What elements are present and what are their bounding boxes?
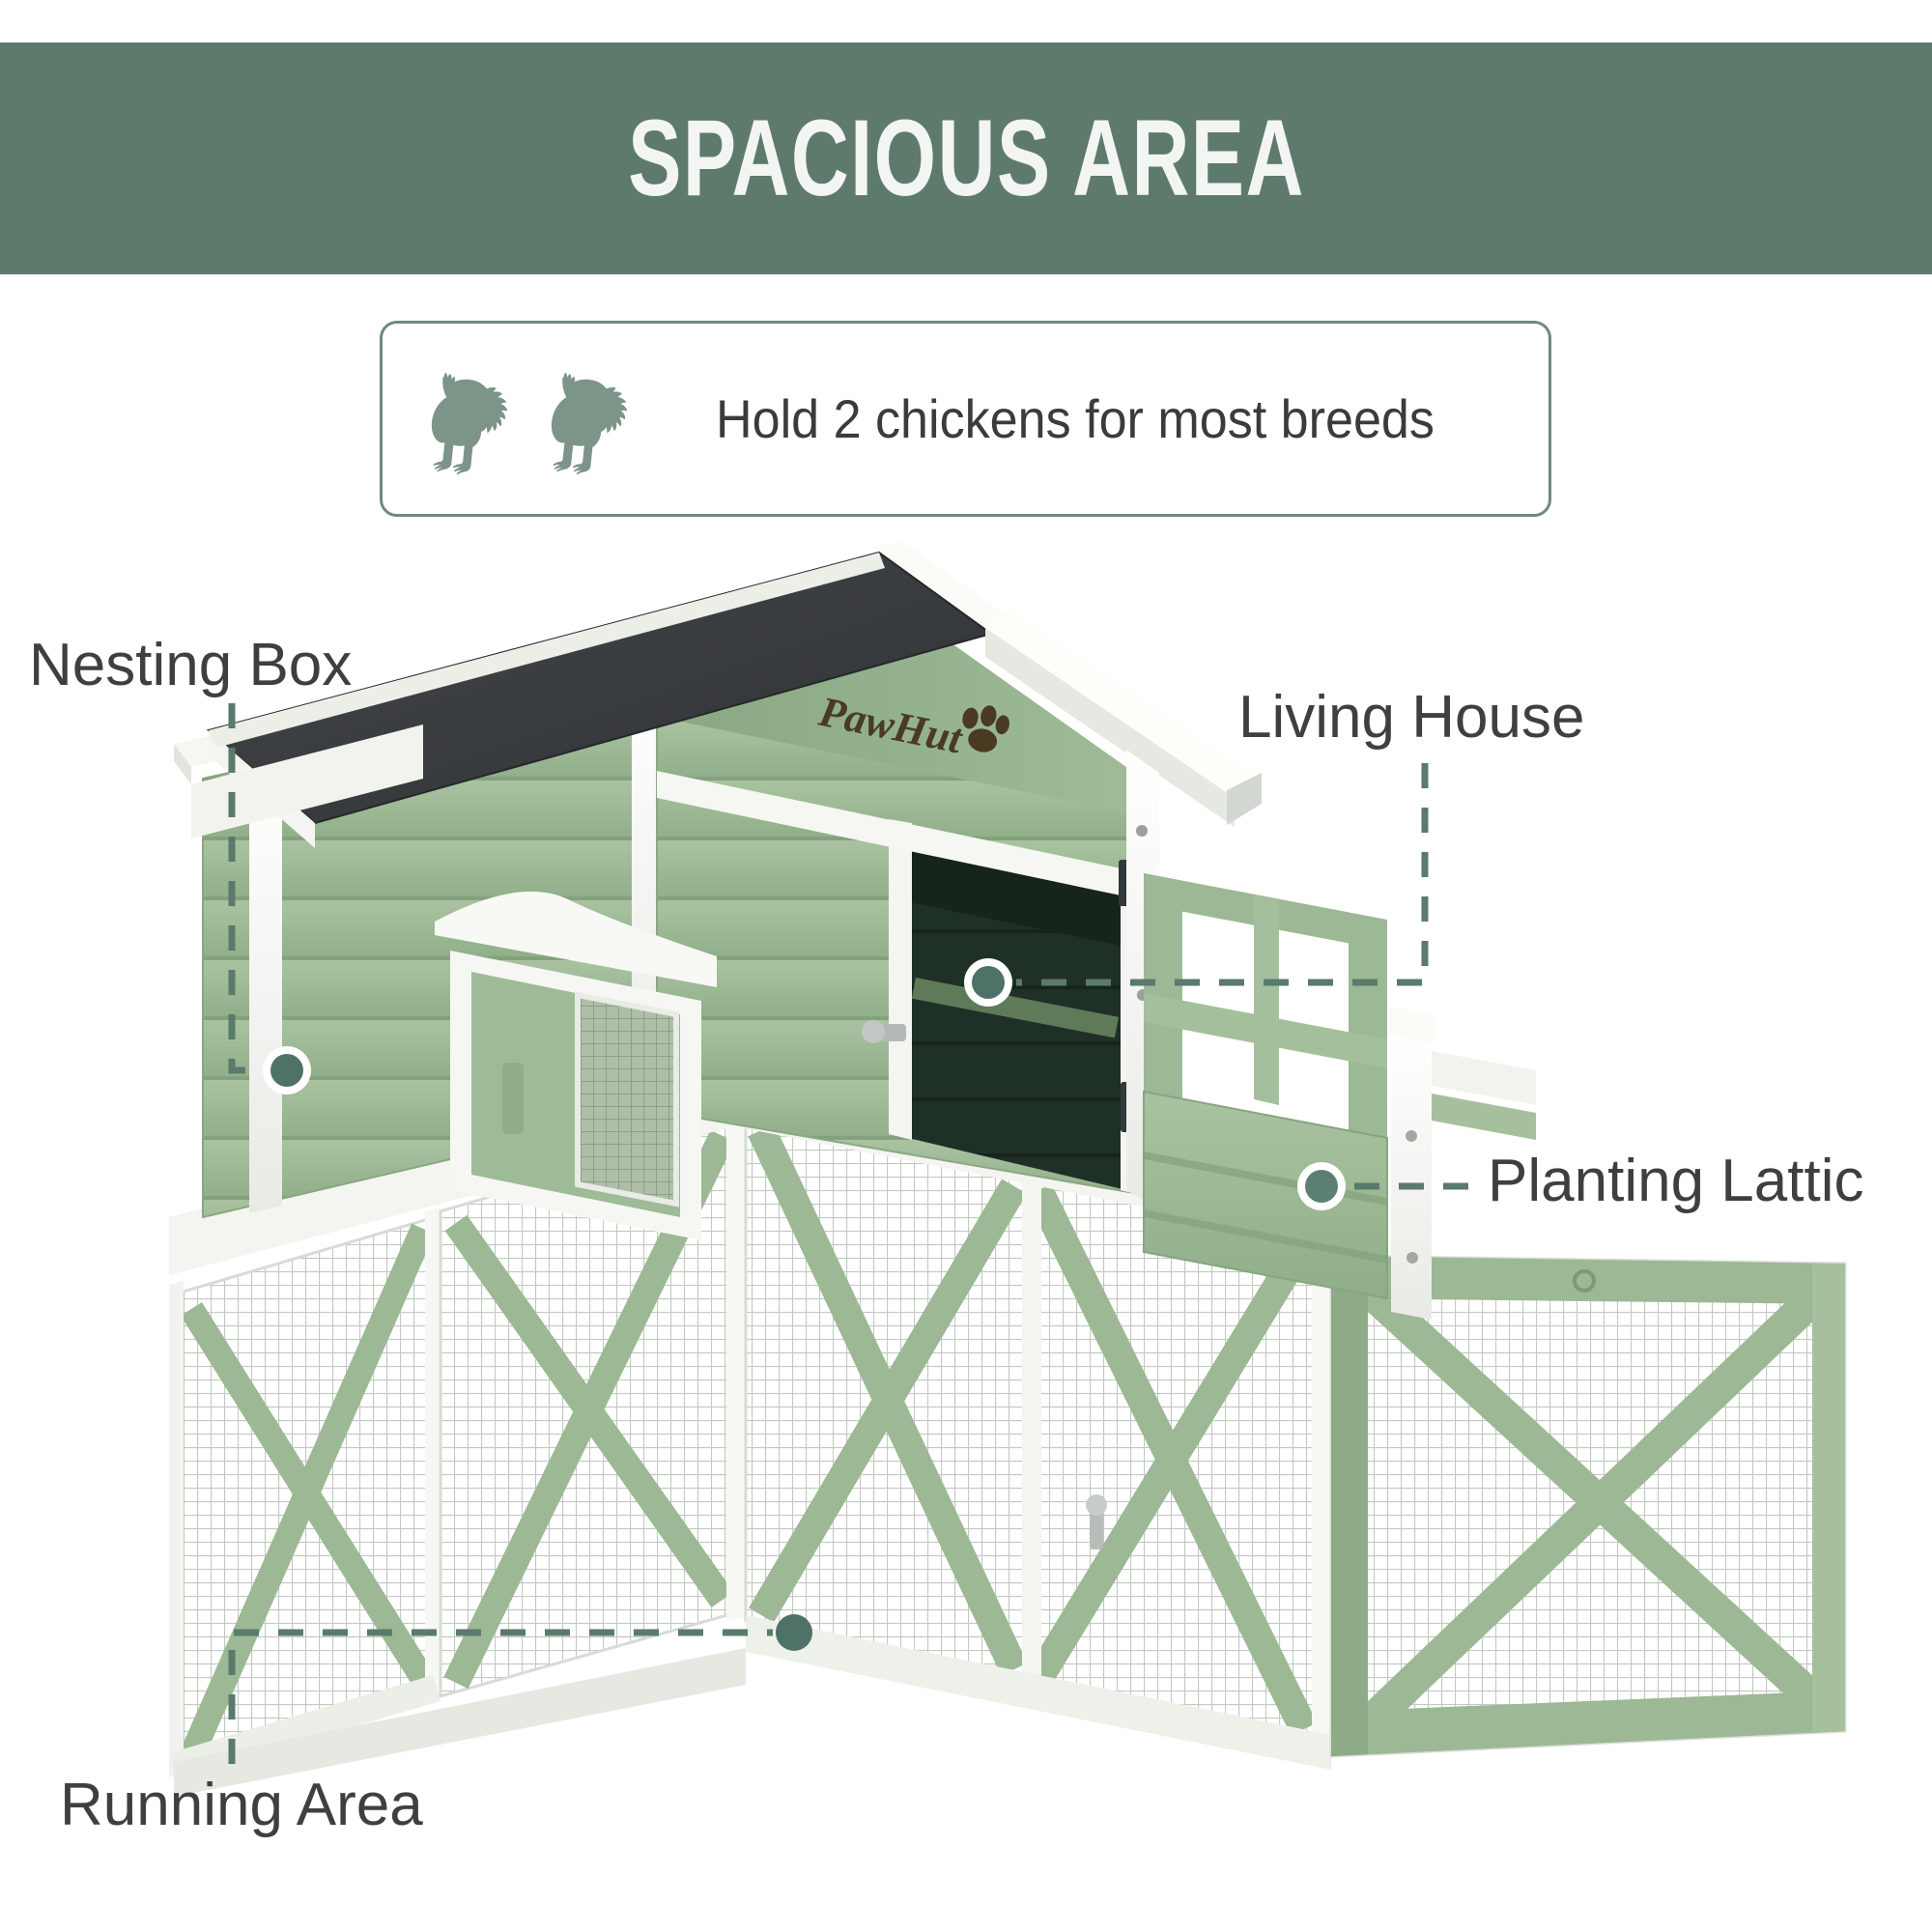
page-title: SPACIOUS AREA [628, 104, 1305, 213]
callout-label-living-house: Living House [1238, 688, 1584, 748]
chicken-silhouette-icon [428, 357, 521, 481]
run-gate [1331, 1256, 1845, 1756]
callout-label-planting-lattic: Planting Lattic [1488, 1151, 1863, 1211]
callout-label-running-area: Running Area [60, 1776, 423, 1835]
chicken-coop-illustration: PawHut [116, 541, 1855, 1893]
callout-label-nesting-box: Nesting Box [29, 636, 352, 696]
planting-lattice [1144, 873, 1536, 1320]
product-image: PawHut [116, 541, 1855, 1893]
capacity-info-box: Hold 2 chickens for most breeds [380, 321, 1551, 517]
chicken-icon-group [428, 357, 640, 481]
chicken-silhouette-icon [548, 357, 640, 481]
infographic-canvas: SPACIOUS AREA Hold 2 chickens for most b… [0, 0, 1932, 1932]
capacity-text: Hold 2 chickens for most breeds [716, 387, 1435, 450]
header-banner: SPACIOUS AREA [0, 43, 1932, 274]
